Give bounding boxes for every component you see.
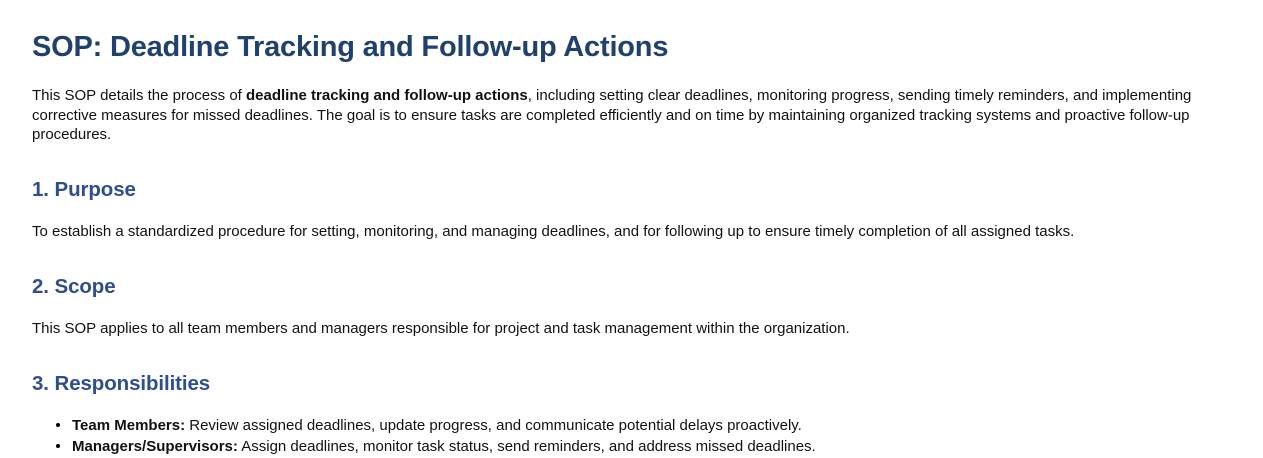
document-page: SOP: Deadline Tracking and Follow-up Act… — [0, 0, 1263, 457]
section-heading-responsibilities: 3. Responsibilities — [32, 339, 1231, 397]
section-body-purpose: To establish a standardized procedure fo… — [32, 202, 1231, 242]
list-item-text: Review assigned deadlines, update progre… — [185, 417, 802, 434]
section-body-scope: This SOP applies to all team members and… — [32, 299, 1231, 339]
bullet-icon — [56, 444, 60, 448]
page-title: SOP: Deadline Tracking and Follow-up Act… — [32, 0, 1231, 64]
list-item: Managers/Supervisors: Assign deadlines, … — [72, 436, 1231, 457]
list-item-text: Assign deadlines, monitor task status, s… — [238, 438, 816, 455]
section-heading-purpose: 1. Purpose — [32, 145, 1231, 203]
list-item-lead-label: Team Members: — [72, 417, 185, 434]
bullet-icon — [56, 423, 60, 427]
intro-bold-phrase: deadline tracking and follow-up actions — [246, 87, 528, 104]
responsibilities-list: Team Members: Review assigned deadlines,… — [32, 397, 1231, 457]
list-item-lead-label: Managers/Supervisors: — [72, 438, 238, 455]
intro-text-before-bold: This SOP details the process of — [32, 87, 246, 104]
section-heading-scope: 2. Scope — [32, 242, 1231, 300]
list-item: Team Members: Review assigned deadlines,… — [72, 415, 1231, 436]
intro-paragraph: This SOP details the process of deadline… — [32, 64, 1231, 145]
